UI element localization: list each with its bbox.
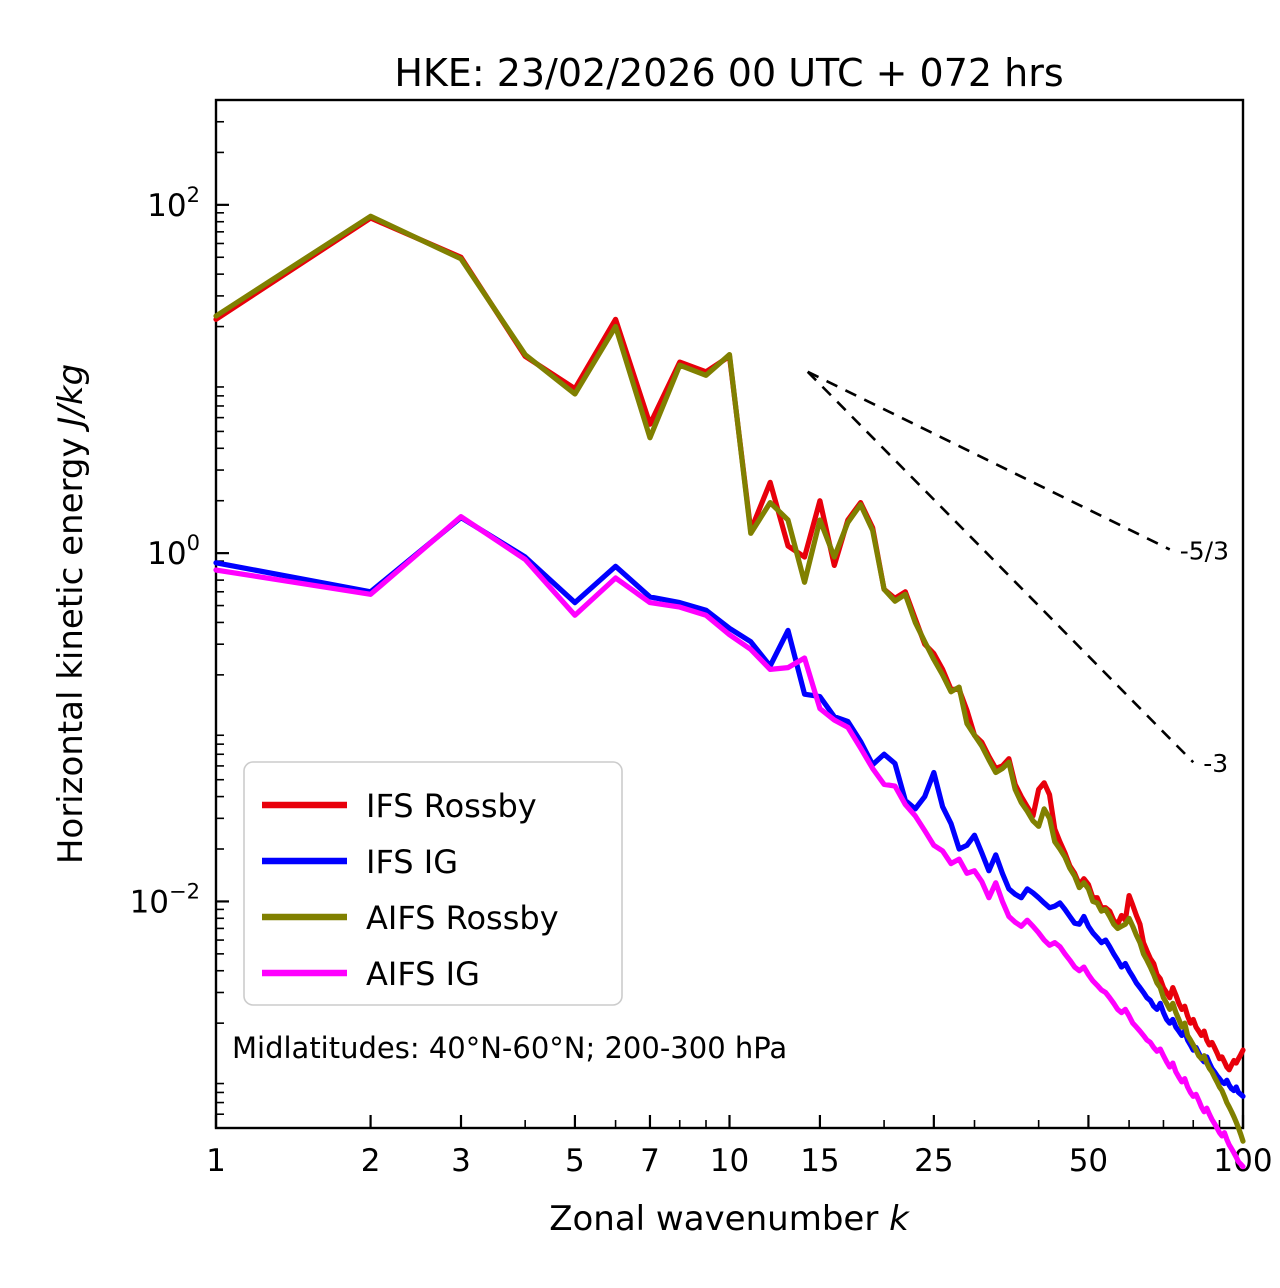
- slope-reference-label: -5/3: [1180, 536, 1229, 565]
- legend-label-ifs-ig: IFS IG: [366, 843, 458, 881]
- x-tick-label: 1: [206, 1143, 226, 1179]
- legend-label-ifs-rossby: IFS Rossby: [366, 787, 537, 825]
- x-tick-label: 15: [800, 1143, 839, 1179]
- x-axis-label-symbol: k: [889, 1199, 910, 1239]
- x-axis-ticks: 1235710152550100: [206, 1115, 1272, 1179]
- y-tick-label: 102: [147, 183, 200, 224]
- legend-label-aifs-rossby: AIFS Rossby: [366, 899, 559, 937]
- x-tick-label: 25: [914, 1143, 953, 1179]
- region-annotation: Midlatitudes: 40°N-60°N; 200-300 hPa: [232, 1031, 787, 1065]
- x-axis-label-plain: Zonal wavenumber: [549, 1199, 889, 1239]
- y-axis-label-units: J/kg: [51, 364, 91, 433]
- hke-spectrum-chart: HKE: 23/02/2026 00 UTC + 072 hrs 1021001…: [0, 0, 1280, 1288]
- chart-legend[interactable]: IFS RossbyIFS IGAIFS RossbyAIFS IG: [244, 762, 622, 1005]
- y-axis-label-plain: Horizontal kinetic energy: [51, 427, 91, 865]
- x-tick-label: 2: [361, 1143, 381, 1179]
- slope-reference-label: -3: [1203, 749, 1228, 778]
- x-tick-label: 10: [710, 1143, 749, 1179]
- figure-canvas: HKE: 23/02/2026 00 UTC + 072 hrs 1021001…: [0, 0, 1280, 1288]
- x-tick-label: 7: [640, 1143, 660, 1179]
- x-axis-label: Zonal wavenumber k: [549, 1199, 910, 1239]
- data-series-group: [216, 216, 1243, 1166]
- x-tick-label: 3: [451, 1143, 471, 1179]
- y-axis-label: Horizontal kinetic energy J/kg: [51, 364, 91, 864]
- x-tick-label: 100: [1213, 1143, 1272, 1179]
- y-tick-label: 100: [147, 531, 200, 572]
- reference-slope-lines: -5/3-3: [808, 372, 1229, 778]
- y-axis-ticks: 10210010−2: [130, 122, 229, 1114]
- y-tick-label: 10−2: [130, 879, 200, 920]
- x-tick-label: 50: [1069, 1143, 1108, 1179]
- chart-title: HKE: 23/02/2026 00 UTC + 072 hrs: [394, 51, 1063, 95]
- legend-label-aifs-ig: AIFS IG: [366, 955, 480, 993]
- x-tick-label: 5: [565, 1143, 585, 1179]
